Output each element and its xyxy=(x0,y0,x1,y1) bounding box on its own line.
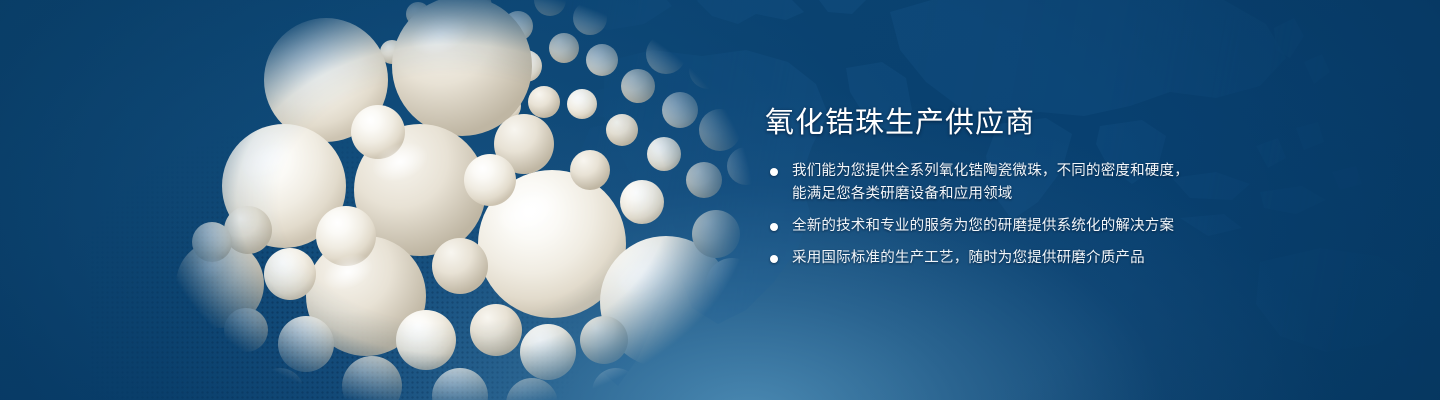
list-item: 采用国际标准的生产工艺，随时为您提供研磨介质产品 xyxy=(765,247,1285,270)
feature-bullet-list: 我们能为您提供全系列氧化锆陶瓷微珠，不同的密度和硬度， 能满足您各类研磨设备和应… xyxy=(765,160,1285,270)
bullet-line: 能满足您各类研磨设备和应用领域 xyxy=(792,183,1285,206)
bullet-line: 我们能为您提供全系列氧化锆陶瓷微珠，不同的密度和硬度， xyxy=(792,160,1285,183)
list-item: 我们能为您提供全系列氧化锆陶瓷微珠，不同的密度和硬度， 能满足您各类研磨设备和应… xyxy=(765,160,1285,206)
bullet-line: 采用国际标准的生产工艺，随时为您提供研磨介质产品 xyxy=(792,247,1285,270)
page-title: 氧化锆珠生产供应商 xyxy=(765,108,1285,138)
bullet-dot-icon xyxy=(770,255,778,263)
hero-banner: 氧化锆珠生产供应商 我们能为您提供全系列氧化锆陶瓷微珠，不同的密度和硬度， 能满… xyxy=(0,0,1440,400)
list-item: 全新的技术和专业的服务为您的研磨提供系统化的解决方案 xyxy=(765,215,1285,238)
bullet-dot-icon xyxy=(770,168,778,176)
bullet-line: 全新的技术和专业的服务为您的研磨提供系统化的解决方案 xyxy=(792,215,1285,238)
zirconia-ceramic-beads-photo xyxy=(120,0,760,400)
banner-copy: 氧化锆珠生产供应商 我们能为您提供全系列氧化锆陶瓷微珠，不同的密度和硬度， 能满… xyxy=(765,108,1285,270)
bullet-dot-icon xyxy=(770,223,778,231)
